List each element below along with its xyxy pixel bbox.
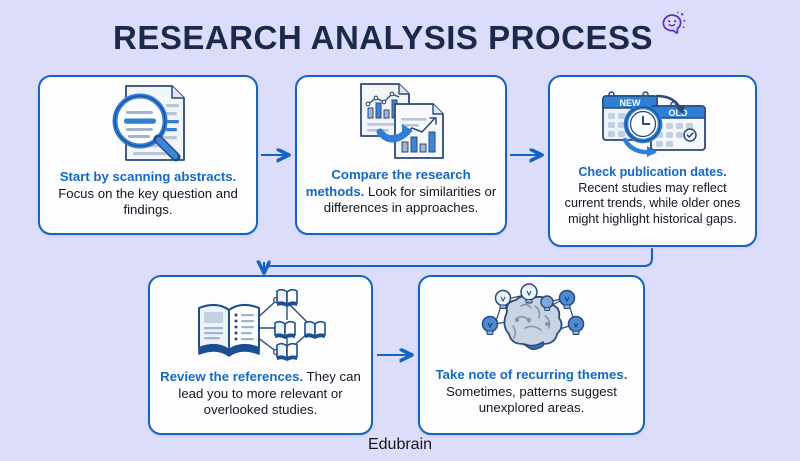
step-3-body: Recent studies may reflect current trend… xyxy=(565,181,741,226)
two-chart-documents-compare-icon xyxy=(297,77,505,167)
infographic-canvas: RESEARCH ANALYSIS PROCESS xyxy=(0,0,800,461)
step-5-headline: Take note of recurring themes. xyxy=(436,367,628,382)
step-card-5[interactable]: Take note of recurring themes. Sometimes… xyxy=(418,275,645,435)
open-book-reference-network-icon xyxy=(150,277,371,369)
step-2-text: Compare the research methods. Look for s… xyxy=(297,167,505,217)
step-card-1[interactable]: Start by scanning abstracts. Focus on th… xyxy=(38,75,258,235)
step-card-3[interactable]: NEW OLD xyxy=(548,75,757,247)
step-4-headline: Review the references. xyxy=(160,369,303,384)
connector-3-to-4 xyxy=(264,249,652,274)
step-5-text: Take note of recurring themes. Sometimes… xyxy=(420,367,643,417)
brand-footer: Edubrain xyxy=(0,436,800,454)
new-old-calendars-clock-icon: NEW OLD xyxy=(550,77,755,165)
step-3-headline: Check publication dates. xyxy=(578,165,726,179)
step-card-4[interactable]: Review the references. They can lead you… xyxy=(148,275,373,435)
step-card-2[interactable]: Compare the research methods. Look for s… xyxy=(295,75,507,235)
step-1-text: Start by scanning abstracts. Focus on th… xyxy=(40,169,256,219)
step-1-headline: Start by scanning abstracts. xyxy=(60,169,237,184)
magnifier-over-document-icon xyxy=(40,77,256,169)
step-1-body: Focus on the key question and findings. xyxy=(58,186,238,218)
brain-with-lightbulbs-icon xyxy=(420,277,643,367)
step-3-text: Check publication dates. Recent studies … xyxy=(550,165,755,227)
step-5-body: Sometimes, patterns suggest unexplored a… xyxy=(446,384,617,416)
step-4-text: Review the references. They can lead you… xyxy=(150,369,371,419)
